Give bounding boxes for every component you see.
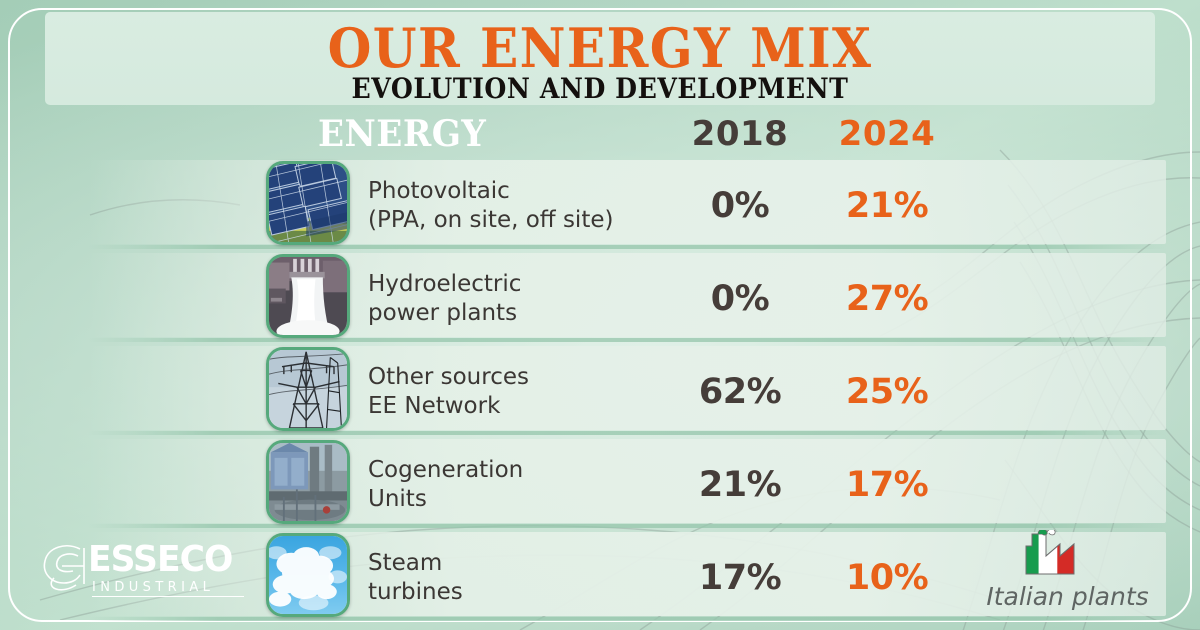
row-value-2024: 25% [818, 372, 956, 412]
row-label-line1: Other sources [368, 363, 668, 392]
row-label: Hydroelectric power plants [368, 270, 668, 328]
row-label-line1: Photovoltaic [368, 177, 668, 206]
column-header-2018: 2018 [680, 112, 800, 156]
row-value-2024: 21% [818, 186, 956, 226]
steam-clouds-photo-icon [266, 533, 350, 617]
row-label-line1: Steam [368, 549, 668, 578]
row-value-2024: 10% [818, 558, 956, 598]
row-separator [88, 431, 1166, 435]
row-value-2018: 62% [672, 372, 808, 412]
row-value-2024: 27% [818, 279, 956, 319]
row-label-line2: turbines [368, 578, 668, 607]
row-value-2018: 0% [672, 186, 808, 226]
row-label-line2: (PPA, on site, off site) [368, 206, 668, 235]
row-label-line1: Cogeneration [368, 456, 668, 485]
row-separator [88, 338, 1166, 342]
row-label-line1: Hydroelectric [368, 270, 668, 299]
column-header-row: ENERGY 2018 2024 [0, 112, 1200, 158]
table-row: Hydroelectric power plants 0% 27% [0, 253, 1200, 345]
row-value-2018: 21% [672, 465, 808, 505]
italian-flag-factory-icon [1020, 530, 1076, 576]
row-label: Other sources EE Network [368, 363, 668, 421]
row-value-2024: 17% [818, 465, 956, 505]
row-label: Steam turbines [368, 549, 668, 607]
column-header-energy: ENERGY [318, 112, 486, 156]
row-value-2018: 17% [672, 558, 808, 598]
hydro-dam-photo-icon [266, 254, 350, 338]
table-row: Other sources EE Network 62% 25% [0, 346, 1200, 438]
esseco-wordmark: ESSECO [88, 540, 232, 580]
page-subtitle: EVOLUTION AND DEVELOPMENT [101, 74, 1100, 104]
italian-plants-badge: Italian plants [960, 530, 1175, 616]
cogeneration-plant-photo-icon [266, 440, 350, 524]
row-label-line2: EE Network [368, 392, 668, 421]
row-separator [88, 245, 1166, 249]
row-label: Cogeneration Units [368, 456, 668, 514]
row-value-2018: 0% [672, 279, 808, 319]
row-label-line2: Units [368, 485, 668, 514]
row-label-line2: power plants [368, 299, 668, 328]
power-pylon-photo-icon [266, 347, 350, 431]
row-separator [88, 524, 1166, 528]
esseco-logo: ESSECO INDUSTRIAL [40, 540, 250, 602]
column-header-2024: 2024 [822, 112, 952, 156]
row-separator [88, 617, 1166, 621]
row-label: Photovoltaic (PPA, on site, off site) [368, 177, 668, 235]
title-banner: OUR ENERGY MIX EVOLUTION AND DEVELOPMENT [45, 12, 1155, 105]
table-row: Photovoltaic (PPA, on site, off site) 0%… [0, 160, 1200, 252]
solar-panels-photo-icon [266, 161, 350, 245]
table-row: Cogeneration Units 21% 17% [0, 439, 1200, 531]
page-title: OUR ENERGY MIX [84, 19, 1116, 77]
infographic-canvas: OUR ENERGY MIX EVOLUTION AND DEVELOPMENT… [0, 0, 1200, 630]
italian-plants-caption: Italian plants [960, 582, 1175, 612]
esseco-tagline: INDUSTRIAL [92, 580, 244, 597]
